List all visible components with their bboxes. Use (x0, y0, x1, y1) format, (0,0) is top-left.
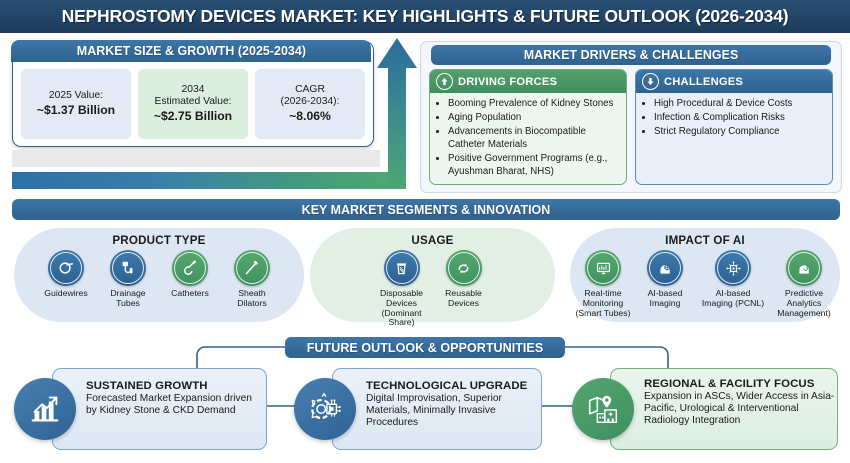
driving-forces-list: Booming Prevalence of Kidney Stones Agin… (430, 93, 626, 178)
drivers-columns: DRIVING FORCES Booming Prevalence of Kid… (429, 69, 833, 185)
driving-forces-title: DRIVING FORCES (458, 76, 557, 88)
drivers-panel: MARKET DRIVERS & CHALLENGES DRIVING FORC… (420, 41, 842, 193)
infographic-page: NEPHROSTOMY DEVICES MARKET: KEY HIGHLIGH… (0, 0, 850, 463)
market-size-card-cagr-label-2: (2026-2034): (281, 96, 340, 108)
list-item: Advancements in Biocompatible Catheter M… (448, 126, 620, 151)
label-line: Management) (777, 309, 831, 319)
segment-item-drainage-tubes-label: Drainage Tubes (110, 289, 145, 309)
page-title-bar: NEPHROSTOMY DEVICES MARKET: KEY HIGHLIGH… (0, 0, 850, 33)
market-size-card-2034-label-2: Estimated Value: (154, 96, 231, 108)
segment-item-ai-based-imaging-pcnl[interactable]: AI-based Imaging (PCNL) (696, 250, 770, 318)
segment-item-catheters[interactable]: Catheters (159, 250, 221, 309)
market-size-card-cagr-value: ~8.06% (289, 109, 331, 123)
segment-group-product-type-title: PRODUCT TYPE (14, 234, 304, 247)
market-size-card-2025-label: 2025 Value: (49, 90, 103, 102)
outlook-card-title: REGIONAL & FACILITY FOCUS (644, 378, 836, 390)
trash-bin-icon (384, 250, 420, 286)
segment-item-drainage-tubes[interactable]: Drainage Tubes (97, 250, 159, 309)
market-size-card-cagr: CAGR (2026-2034): ~8.06% (255, 69, 365, 139)
label-line: Devices (445, 299, 482, 309)
arrow-down-circle-icon (642, 73, 659, 90)
list-item: Positive Government Programs (e.g., Ayus… (448, 153, 620, 178)
segment-item-sheath-dilators[interactable]: Sheath Dilators (221, 250, 283, 309)
outlook-card-regional-facility-focus-text: REGIONAL & FACILITY FOCUS Expansion in A… (644, 378, 836, 428)
market-size-card-2034-label-1: 2034 (182, 84, 205, 96)
segment-group-usage: USAGE Disposable Devices (Dominant Share… (310, 228, 555, 322)
ai-chip-icon (715, 250, 751, 286)
growth-arrow-icon (375, 36, 419, 191)
segment-item-ai-based-imaging-label: AI-based Imaging (648, 289, 683, 309)
label-line: Imaging (PCNL) (702, 299, 764, 309)
segment-item-real-time-monitoring[interactable]: Real-time Monitoring (Smart Tubes) (572, 250, 634, 318)
segment-item-predictive-analytics-label: Predictive Analytics Management) (777, 289, 831, 318)
segment-group-impact-of-ai-icons: Real-time Monitoring (Smart Tubes) AI-ba… (570, 250, 840, 318)
segment-item-catheters-label: Catheters (171, 289, 209, 299)
outlook-card-title: SUSTAINED GROWTH (86, 380, 261, 392)
gear-chip-icon (294, 378, 356, 440)
market-size-panel: MARKET SIZE & GROWTH (2025-2034) 2025 Va… (12, 41, 374, 147)
market-size-card-row: 2025 Value: ~$1.37 Billion 2034 Estimate… (13, 66, 373, 142)
market-size-card-2025: 2025 Value: ~$1.37 Billion (21, 69, 131, 139)
ai-brain-head-icon (647, 250, 683, 286)
list-item: Aging Population (448, 112, 620, 125)
market-size-card-2025-value: ~$1.37 Billion (37, 103, 115, 117)
segment-item-real-time-monitoring-label: Real-time Monitoring (Smart Tubes) (575, 289, 630, 318)
map-hospital-icon (572, 378, 634, 440)
sheath-dilator-icon (234, 250, 270, 286)
segment-item-ai-based-imaging-pcnl-label: AI-based Imaging (PCNL) (702, 289, 764, 309)
segment-group-product-type-icons: Guidewires Drainage Tubes (14, 250, 304, 309)
outlook-card-technological-upgrade-text: TECHNOLOGICAL UPGRADE Digital Improvisat… (366, 380, 538, 430)
market-size-card-2034-value: ~$2.75 Billion (154, 109, 232, 123)
brain-head-icon (786, 250, 822, 286)
gradient-base-bar (12, 172, 392, 189)
label-line: (Dominant Share) (371, 309, 433, 329)
segment-item-disposable-devices[interactable]: Disposable Devices (Dominant Share) (371, 250, 433, 328)
arrow-up-circle-icon (436, 73, 453, 90)
page-title: NEPHROSTOMY DEVICES MARKET: KEY HIGHLIGH… (62, 6, 789, 27)
market-size-card-2034: 2034 Estimated Value: ~$2.75 Billion (138, 69, 248, 139)
label-line: Guidewires (44, 289, 87, 299)
segment-group-usage-title: USAGE (310, 234, 555, 247)
outlook-card-title: TECHNOLOGICAL UPGRADE (366, 380, 538, 392)
outlook-card-desc: Digital Improvisation, Superior Material… (366, 393, 538, 430)
growth-chart-icon (14, 378, 76, 440)
grey-base-bar (12, 150, 380, 167)
segment-item-reusable-devices[interactable]: Reusable Devices (433, 250, 495, 328)
segment-item-ai-based-imaging[interactable]: AI-based Imaging (634, 250, 696, 318)
label-line: Dilators (237, 299, 266, 309)
catheter-icon (172, 250, 208, 286)
segment-item-predictive-analytics[interactable]: Predictive Analytics Management) (770, 250, 838, 318)
label-line: (Smart Tubes) (575, 309, 630, 319)
segments-row: PRODUCT TYPE Guidewires Drainage (0, 228, 850, 332)
outlook-card-desc: Forecasted Market Expansion driven by Ki… (86, 393, 261, 417)
segment-item-sheath-dilators-label: Sheath Dilators (237, 289, 266, 309)
drainage-tube-icon (110, 250, 146, 286)
recycle-icon (446, 250, 482, 286)
label-line: Tubes (110, 299, 145, 309)
monitor-chart-icon (585, 250, 621, 286)
segment-item-guidewires[interactable]: Guidewires (35, 250, 97, 309)
list-item: Strict Regulatory Compliance (654, 126, 826, 139)
outlook-header: FUTURE OUTLOOK & OPPORTUNITIES (285, 337, 565, 358)
market-size-header: MARKET SIZE & GROWTH (2025-2034) (11, 40, 371, 62)
segment-group-product-type: PRODUCT TYPE Guidewires Drainage (14, 228, 304, 322)
label-line: Catheters (171, 289, 209, 299)
outlook-card-desc: Expansion in ASCs, Wider Access in Asia-… (644, 391, 836, 428)
market-size-card-cagr-label-1: CAGR (295, 84, 325, 96)
segment-item-guidewires-label: Guidewires (44, 289, 87, 299)
list-item: High Procedural & Device Costs (654, 98, 826, 111)
challenges-column: CHALLENGES High Procedural & Device Cost… (635, 69, 833, 185)
segment-item-reusable-devices-label: Reusable Devices (445, 289, 482, 309)
label-line: Imaging (648, 299, 683, 309)
list-item: Booming Prevalence of Kidney Stones (448, 98, 620, 111)
drivers-header: MARKET DRIVERS & CHALLENGES (431, 45, 831, 65)
challenges-list: High Procedural & Device Costs Infection… (636, 93, 832, 139)
guidewire-icon (48, 250, 84, 286)
challenges-header: CHALLENGES (636, 70, 832, 93)
segment-item-disposable-devices-label: Disposable Devices (Dominant Share) (371, 289, 433, 328)
list-item: Infection & Complication Risks (654, 112, 826, 125)
outlook-row: SUSTAINED GROWTH Forecasted Market Expan… (0, 366, 850, 459)
segments-header: KEY MARKET SEGMENTS & INNOVATION (12, 199, 840, 220)
driving-forces-header: DRIVING FORCES (430, 70, 626, 93)
segment-group-impact-of-ai: IMPACT OF AI Real-time Monitoring (Smart… (570, 228, 840, 322)
segment-group-impact-of-ai-title: IMPACT OF AI (570, 234, 840, 247)
segment-group-usage-icons: Disposable Devices (Dominant Share) Reus… (310, 250, 555, 328)
driving-forces-column: DRIVING FORCES Booming Prevalence of Kid… (429, 69, 627, 185)
outlook-card-sustained-growth-text: SUSTAINED GROWTH Forecasted Market Expan… (86, 380, 261, 417)
challenges-title: CHALLENGES (664, 76, 743, 88)
